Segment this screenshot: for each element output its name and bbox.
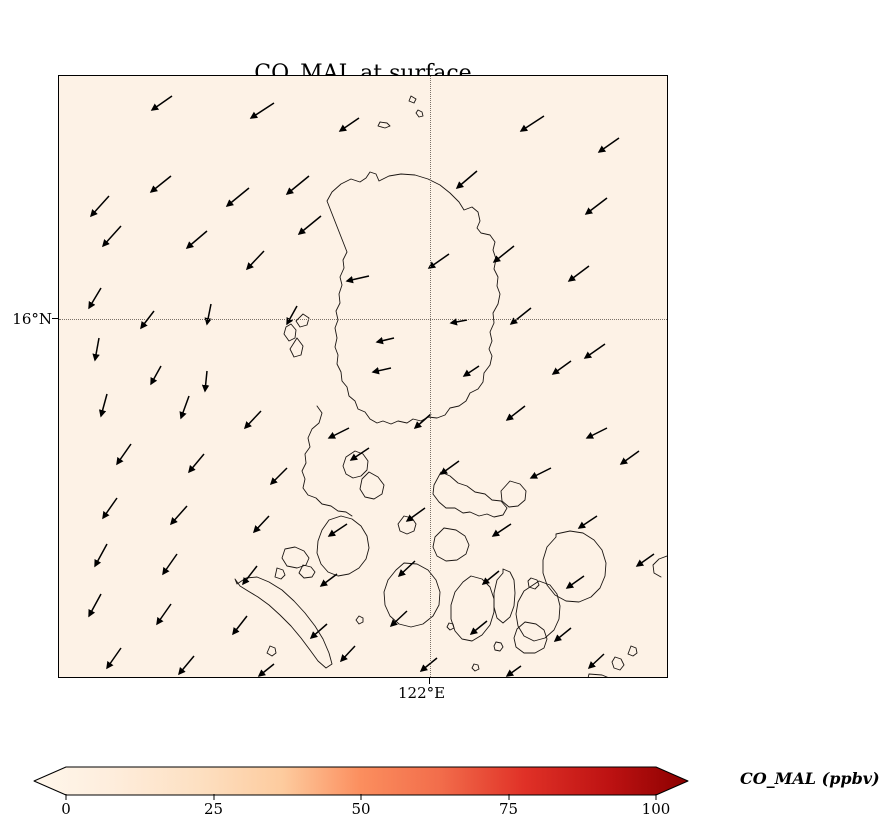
map-plot-area[interactable]	[58, 75, 668, 678]
colorbar-tick-label: 50	[351, 800, 370, 818]
map-canvas	[59, 76, 667, 677]
colorbar-tick-labels: 0255075100	[33, 800, 689, 822]
xtick-label-122e-text: 122°E	[398, 684, 445, 702]
wind-quiver-layer	[89, 96, 654, 676]
ytick-label-16n: 16°N	[12, 310, 52, 328]
colorbar-gradient	[33, 766, 689, 796]
colorbar-axis-label: CO_MAL (ppbv)	[740, 769, 880, 788]
colorbar-body	[34, 767, 688, 795]
colorbar-tick-label: 0	[61, 800, 71, 818]
colorbar-tick-label: 100	[642, 800, 671, 818]
colorbar-tick-label: 75	[499, 800, 518, 818]
colorbar[interactable]	[33, 766, 689, 796]
ytick-mark-16n	[52, 318, 58, 319]
colorbar-tick-label: 25	[204, 800, 223, 818]
